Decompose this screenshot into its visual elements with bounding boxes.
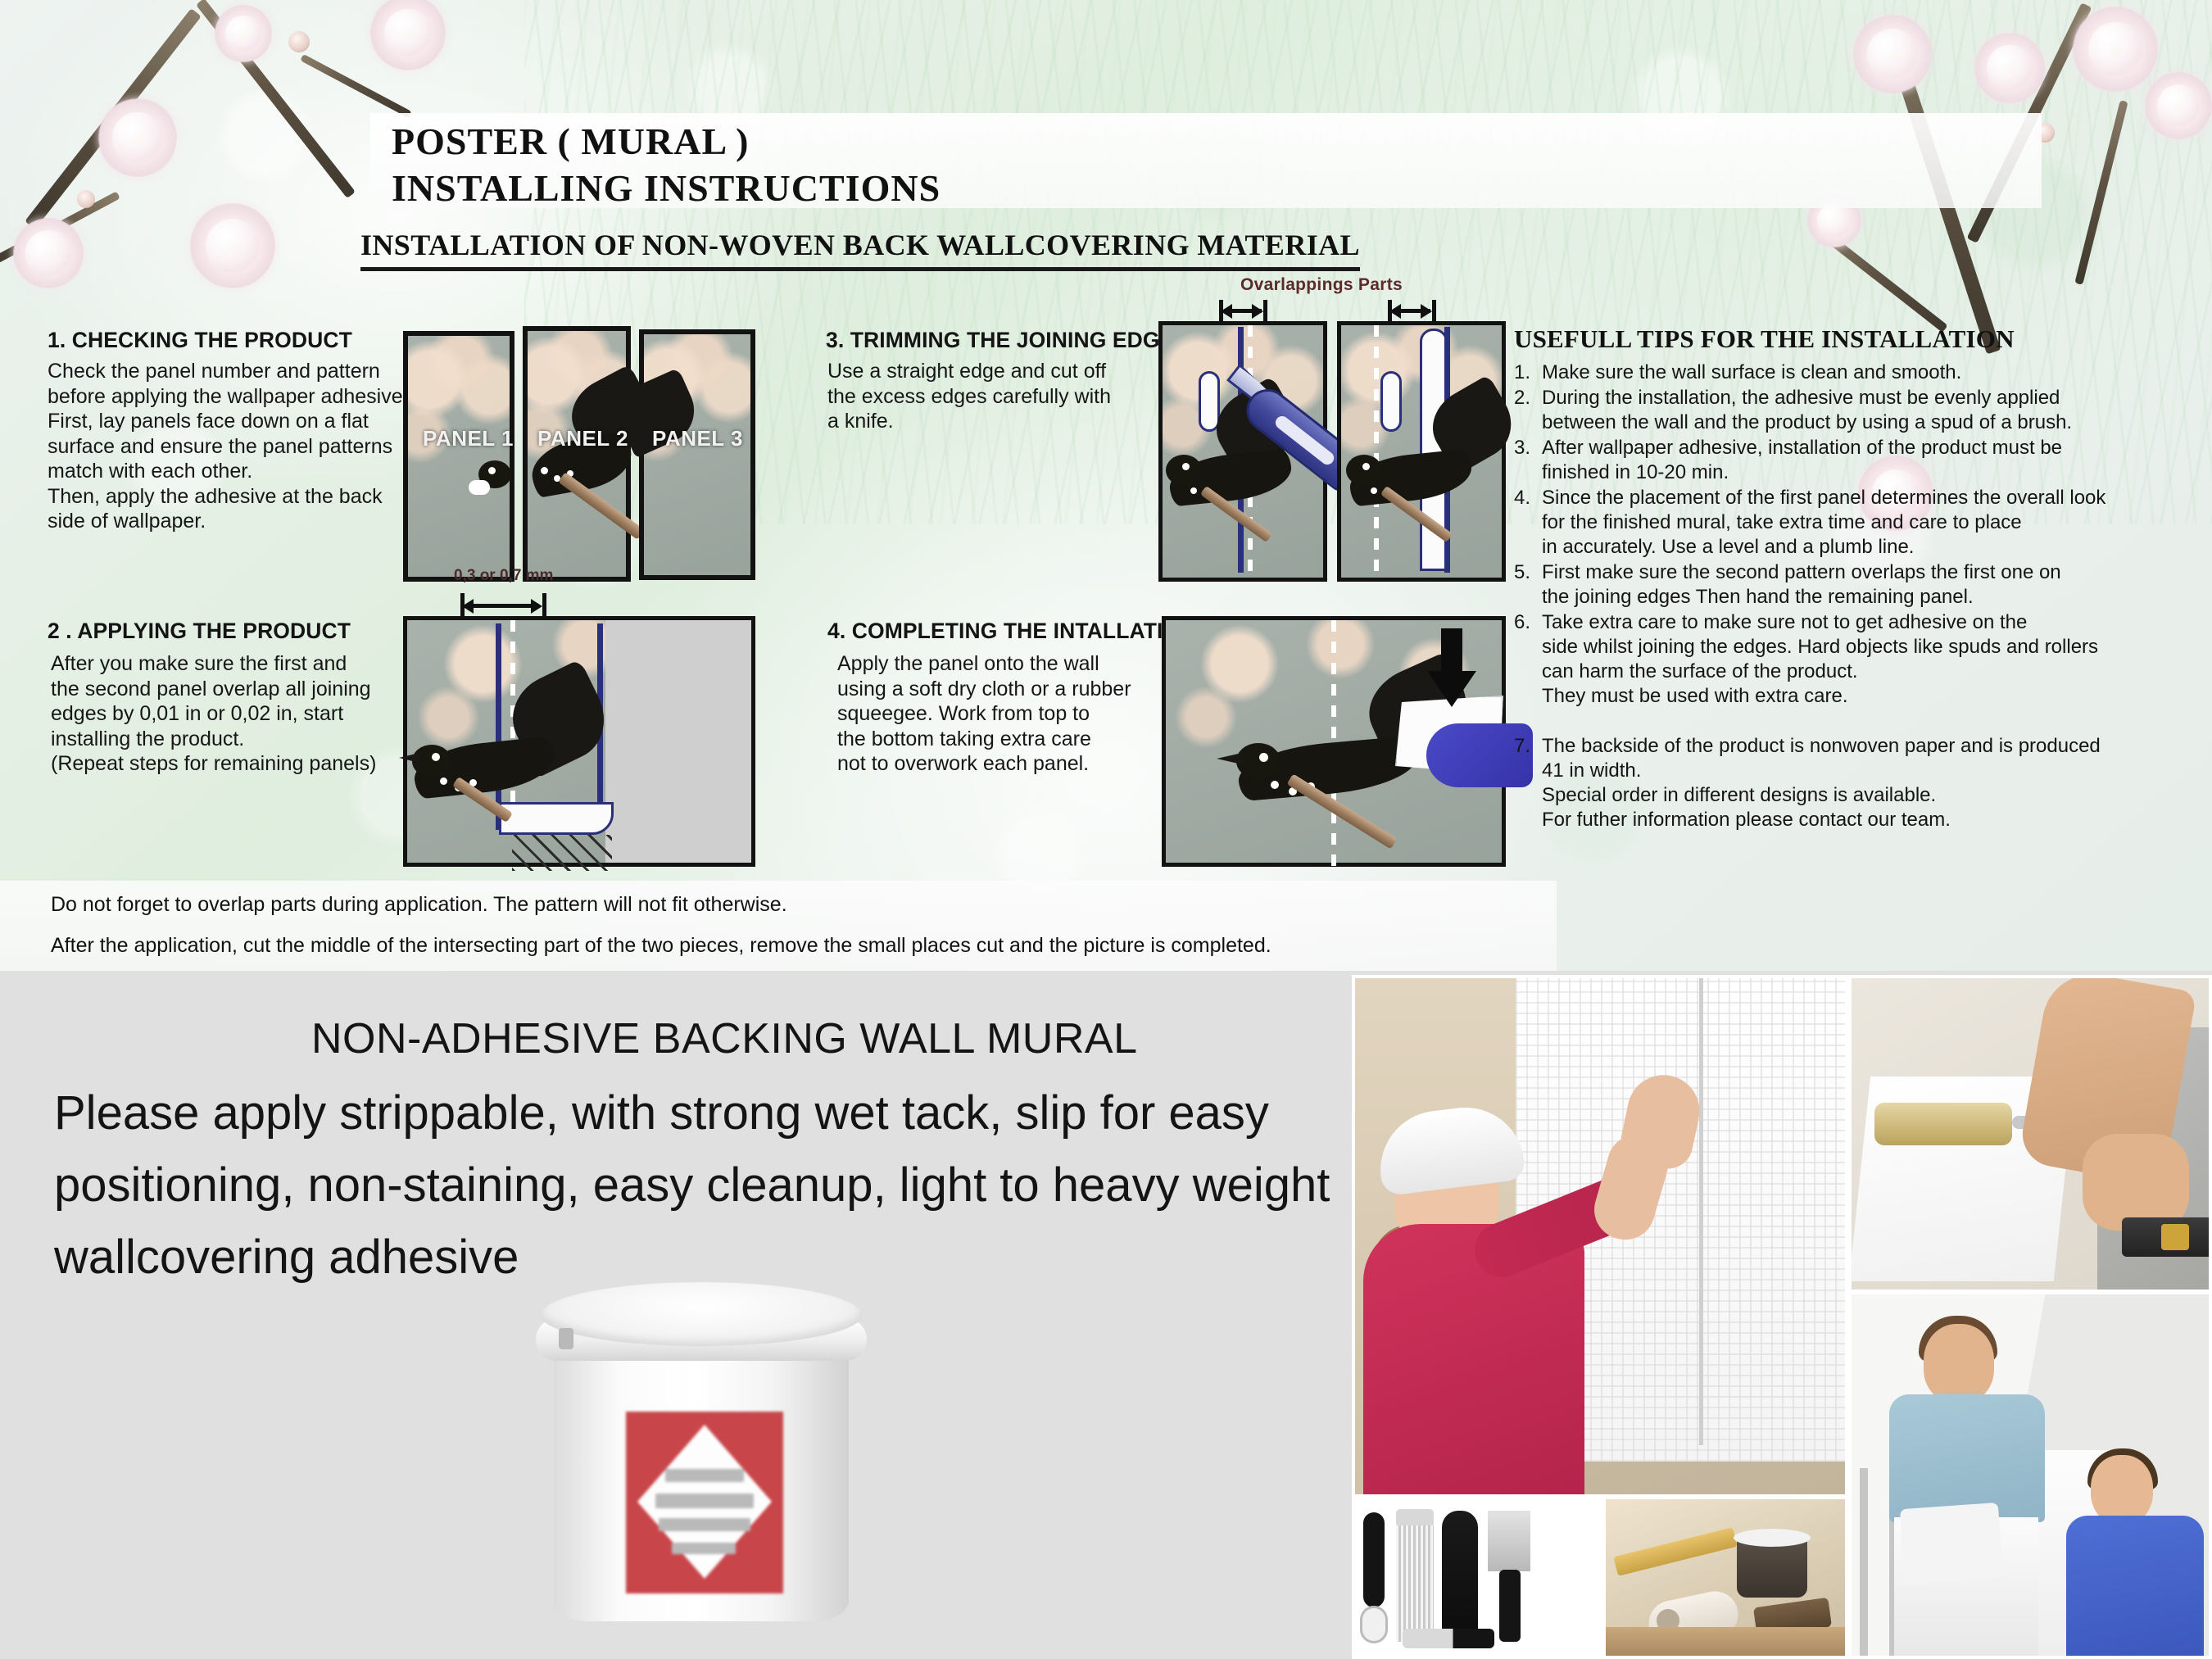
tip-number: 7. [1514, 734, 1542, 832]
step-4-line: Apply the panel onto the wall [837, 651, 1131, 677]
worker-hand [2083, 1134, 2189, 1231]
diagram-applying-product [403, 616, 755, 867]
promo-description: Please apply strippable, with strong wet… [54, 1077, 1349, 1294]
step-3-line: Use a straight edge and cut off [827, 359, 1111, 384]
step-3-line: the excess edges carefully with [827, 384, 1111, 410]
bird-head-shape [1166, 455, 1202, 486]
tip-line: finished in 10-20 min. [1542, 460, 2062, 485]
putty-knife-blade [1488, 1511, 1530, 1571]
step-3-heading: 3. TRIMMING THE JOINING EDGES [826, 328, 1189, 353]
panel-3-frame [639, 329, 755, 580]
tip-line: Since the placement of the first panel d… [1542, 486, 2105, 510]
putty-knife-handle [1499, 1570, 1521, 1642]
man-head [1924, 1324, 1994, 1403]
bird-breast-speck [1371, 487, 1377, 494]
step-4-body: Apply the panel onto the wall using a so… [837, 651, 1131, 777]
tip-item: 7. The backside of the product is nonwov… [1514, 734, 2194, 832]
tip-item: 3. After wallpaper adhesive, installatio… [1514, 436, 2194, 485]
boy-smock [2066, 1516, 2204, 1656]
tip-line: side whilst joining the edges. Hard obje… [1542, 635, 2098, 660]
tip-number: 5. [1514, 560, 1542, 610]
tips-list: 1. Make sure the wall surface is clean a… [1514, 360, 2194, 833]
man-shirt [1889, 1394, 2045, 1522]
direction-arrow-head [1427, 671, 1476, 707]
photo-two-people-hanging [1852, 1294, 2209, 1656]
overlap-tick-right-b [1432, 300, 1436, 323]
tip-line: between the wall and the product by usin… [1542, 410, 2072, 435]
step-2-line: After you make sure the first and [51, 651, 376, 677]
step-2-line: the second panel overlap all joining [51, 677, 376, 702]
footnote-overlap: Do not forget to overlap parts during ap… [51, 893, 787, 917]
dimension-arrow-right [531, 599, 542, 614]
photo-roller-pasting [1852, 978, 2209, 1290]
tip-text: First make sure the second pattern overl… [1542, 560, 2061, 610]
step-1-line: Check the panel number and pattern [48, 359, 409, 384]
step-4-line: the bottom taking extra care [837, 727, 1131, 752]
tip-line: They must be used with extra care. [1542, 684, 2098, 709]
footnote-cut-middle: After the application, cut the middle of… [51, 934, 1271, 958]
step-1-line: Then, apply the adhesive at the back [48, 484, 409, 510]
step-1-line: side of wallpaper. [48, 509, 409, 534]
tip-number: 4. [1514, 486, 1542, 560]
panel-1-label: PANEL 1 [423, 426, 514, 451]
overlap-arrow-left-b [1252, 304, 1263, 319]
promo-line: positioning, non-staining, easy cleanup,… [54, 1149, 1349, 1222]
bird-eye-shape [1182, 463, 1190, 470]
bucket-label [626, 1412, 783, 1593]
tip-text: After wallpaper adhesive, installation o… [1542, 436, 2062, 485]
step-1-line: surface and ensure the panel patterns [48, 434, 409, 460]
photo-woman-smoothing-wallpaper [1355, 978, 1845, 1494]
page-subtitle: INSTALLATION OF NON-WOVEN BACK WALLCOVER… [360, 228, 1360, 271]
overlap-tick-left-b [1263, 300, 1267, 323]
step-4-line: using a soft dry cloth or a rubber [837, 677, 1131, 702]
tip-line: in accurately. Use a level and a plumb l… [1542, 535, 2105, 560]
cut-waste-hatching [512, 835, 612, 871]
overlap-label: Ovarlappings Parts [1240, 275, 1403, 295]
smoothing-brush-handle [1396, 1509, 1434, 1527]
tips-spacer [1514, 709, 2194, 734]
step-2-line: installing the product. [51, 727, 376, 752]
tip-line: Take extra care to make sure not to get … [1542, 610, 2098, 635]
page-title-line1: POSTER ( MURAL ) [392, 120, 749, 163]
bird-head-shape [1236, 743, 1281, 779]
tip-item: 6. Take extra care to make sure not to g… [1514, 610, 2194, 709]
diagram-trimmed-result [1337, 321, 1506, 582]
tip-item: 2. During the installation, the adhesive… [1514, 386, 2194, 435]
seam-roller-wheel [1360, 1606, 1388, 1643]
promo-title: NON-ADHESIVE BACKING WALL MURAL [311, 1014, 1138, 1063]
step-4-line: squeegee. Work from top to [837, 701, 1131, 727]
tip-line: the joining edges Then hand the remainin… [1542, 585, 2061, 610]
step-1-body: Check the panel number and pattern befor… [48, 359, 409, 534]
bird-eye-shape [1362, 463, 1370, 470]
direction-arrow-stem [1441, 628, 1462, 674]
step-2-body: After you make sure the first and the se… [51, 651, 376, 777]
tip-number: 2. [1514, 386, 1542, 435]
wallpaper-seam [1699, 978, 1703, 1445]
panel-1-frame [403, 331, 514, 582]
tip-line: can harm the surface of the product. [1542, 660, 2098, 684]
paste-bucket-top [1734, 1529, 1811, 1547]
tip-line: The backside of the product is nonwoven … [1542, 734, 2101, 759]
plastic-smoother-tool [1442, 1511, 1478, 1642]
bird-eye-shape [432, 753, 440, 761]
tip-text: The backside of the product is nonwoven … [1542, 734, 2101, 832]
tip-item: 1. Make sure the wall surface is clean a… [1514, 360, 2194, 385]
tip-line: Make sure the wall surface is clean and … [1542, 360, 1961, 385]
work-table [1606, 1627, 1845, 1656]
page-title-line2: INSTALLING INSTRUCTIONS [392, 166, 941, 210]
tip-line: 41 in width. [1542, 759, 2101, 783]
overlap-arrow-right-b [1421, 304, 1432, 319]
bird-head-shape [1346, 455, 1382, 486]
step-4-line: not to overwork each panel. [837, 751, 1131, 777]
overlap-arrow-right-a [1389, 304, 1401, 319]
snap-off-knife-tool [1403, 1629, 1494, 1648]
tip-text: Take extra care to make sure not to get … [1542, 610, 2098, 709]
bird-breast-speck [440, 777, 447, 785]
tip-line: For futher information please contact ou… [1542, 808, 2101, 832]
panel-3-label: PANEL 3 [652, 426, 743, 451]
diagram-completing-installation [1162, 616, 1506, 867]
smoothing-brush-bristles [1396, 1525, 1434, 1642]
diagram-trimming-with-knife [1158, 321, 1327, 582]
wall-area [605, 620, 751, 863]
wooden-stir-stick [1613, 1527, 1737, 1576]
tip-line: for the finished mural, take extra time … [1542, 510, 2105, 535]
curling-panel-lip [499, 802, 614, 835]
step-2-line: (Repeat steps for remaining panels) [51, 751, 376, 777]
tip-line: Special order in different designs is av… [1542, 783, 2101, 808]
step-2-line: edges by 0,01 in or 0,02 in, start [51, 701, 376, 727]
step-1-line: before applying the wallpaper adhesive. [48, 384, 409, 410]
belt-buckle [2161, 1224, 2189, 1250]
tip-text: During the installation, the adhesive mu… [1542, 386, 2072, 435]
straightedge-grip [1380, 371, 1402, 432]
seam-roller-tool [1363, 1512, 1385, 1607]
step-1-line: First, lay panels face down on a flat [48, 409, 409, 434]
tip-item: 4. Since the placement of the first pane… [1514, 486, 2194, 560]
panel-2-label: PANEL 2 [537, 426, 628, 451]
tip-text: Make sure the wall surface is clean and … [1542, 360, 1961, 385]
photo-tool-kit [1355, 1499, 1601, 1656]
panel-2-frame [523, 326, 631, 582]
overlap-callout: Ovarlappings Parts [1204, 275, 1466, 326]
adhesive-bucket-image [541, 1282, 862, 1625]
overlap-arrow-left-a [1221, 304, 1232, 319]
tip-line: During the installation, the adhesive mu… [1542, 386, 2072, 410]
tip-text: Since the placement of the first panel d… [1542, 486, 2105, 560]
bird-eye-shape [1259, 753, 1268, 762]
overlap-edge-guide [496, 623, 501, 830]
bucket-lid [541, 1282, 862, 1346]
bird-breast-speck [1271, 781, 1279, 789]
tip-line: First make sure the second pattern overl… [1542, 560, 2061, 585]
step-1-line: match with each other. [48, 459, 409, 484]
tips-heading: USEFULL TIPS FOR THE INSTALLATION [1514, 324, 2015, 354]
step-2-heading: 2 . APPLYING THE PRODUCT [48, 619, 351, 644]
tip-line: After wallpaper adhesive, installation o… [1542, 436, 2062, 460]
diagram-checking-panels: PANEL 1 PANEL 2 PANEL 3 [403, 326, 764, 590]
dimension-arrow-left [462, 599, 474, 614]
tip-item: 5. First make sure the second pattern ov… [1514, 560, 2194, 610]
step-3-line: a knife. [827, 409, 1111, 434]
bucket-handle [559, 1328, 573, 1349]
promo-line: Please apply strippable, with strong wet… [54, 1077, 1349, 1149]
step-3-body: Use a straight edge and cut off the exce… [827, 359, 1111, 434]
dimension-label: 0,3 or 0,7 mm [454, 567, 553, 585]
photo-collage [1352, 975, 2212, 1659]
tip-number: 1. [1514, 360, 1542, 385]
bird-breast-speck [1190, 487, 1197, 494]
step-1-heading: 1. CHECKING THE PRODUCT [48, 328, 352, 353]
tip-number: 3. [1514, 436, 1542, 485]
photo-paste-supplies [1606, 1499, 1845, 1656]
cut-dashed-line [1374, 325, 1379, 579]
dimension-line [469, 604, 539, 608]
tip-number: 6. [1514, 610, 1542, 709]
instruction-sheet: POSTER ( MURAL ) INSTALLING INSTRUCTIONS… [0, 0, 2212, 971]
woman-torso [1363, 1224, 1584, 1494]
paint-roller-icon [1874, 1103, 2012, 1145]
man-apron [1900, 1503, 2003, 1584]
step-4-heading: 4. COMPLETING THE INTALLATION [827, 619, 1195, 644]
